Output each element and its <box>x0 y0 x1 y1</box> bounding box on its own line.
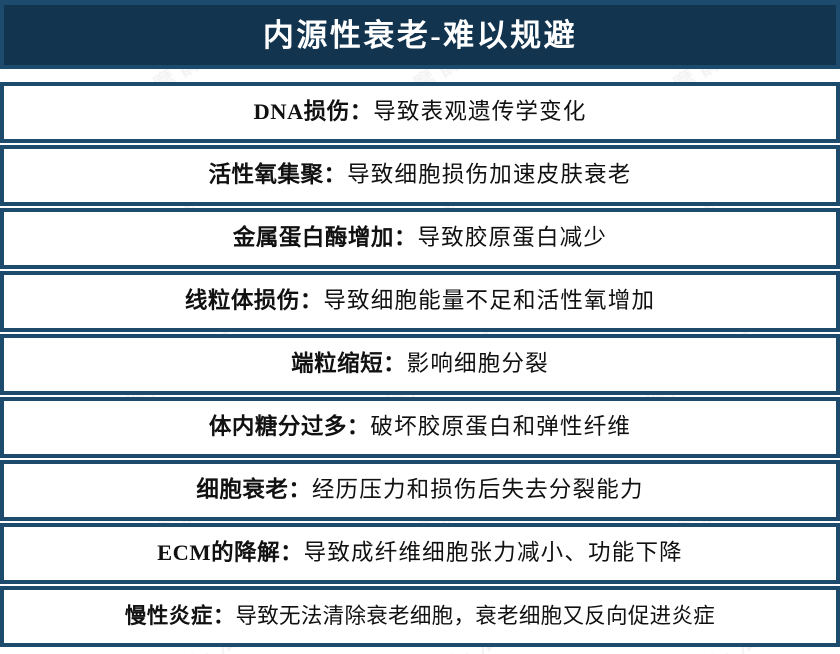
list-item-text: 线粒体损伤：导致细胞能量不足和活性氧增加 <box>185 290 655 313</box>
list-item-text: 慢性炎症：导致无法清除衰老细胞，衰老细胞又反向促进炎症 <box>125 606 715 628</box>
list-item-description: 影响细胞分裂 <box>407 351 549 376</box>
list-item-description: 导致细胞损伤加速皮肤衰老 <box>347 162 631 187</box>
list-item: 体内糖分过多：破坏胶原蛋白和弹性纤维 <box>0 397 840 458</box>
list-item-term: 慢性炎症 <box>125 604 213 628</box>
list-item-text: 细胞衰老：经历压力和损伤后失去分裂能力 <box>196 479 643 502</box>
list-item-term: 体内糖分过多 <box>209 414 347 439</box>
item-list: DNA损伤：导致表观遗传学变化活性氧集聚：导致细胞损伤加速皮肤衰老金属蛋白酶增加… <box>0 82 840 647</box>
list-item: 金属蛋白酶增加：导致胶原蛋白减少 <box>0 208 840 269</box>
list-item-text: 端粒缩短：影响细胞分裂 <box>291 353 549 376</box>
list-item-separator: ： <box>288 477 312 502</box>
list-item-separator: ： <box>324 162 348 187</box>
list-item-description: 经历压力和损伤后失去分裂能力 <box>312 477 644 502</box>
list-item-term: ECM的降解 <box>157 540 280 565</box>
list-item-text: 活性氧集聚：导致细胞损伤加速皮肤衰老 <box>209 164 632 187</box>
list-item: 线粒体损伤：导致细胞能量不足和活性氧增加 <box>0 271 840 332</box>
list-item-separator: ： <box>347 414 371 439</box>
list-item-term: 线粒体损伤 <box>185 288 300 313</box>
list-item: 细胞衰老：经历压力和损伤后失去分裂能力 <box>0 460 840 521</box>
list-item-separator: ： <box>280 540 304 565</box>
list-item-description: 导致细胞能量不足和活性氧增加 <box>323 288 655 313</box>
list-item-description: 破坏胶原蛋白和弹性纤维 <box>370 414 631 439</box>
list-item-separator: ： <box>350 99 374 124</box>
list-item-description: 导致无法清除衰老细胞，衰老细胞又反向促进炎症 <box>235 604 715 628</box>
list-item-separator: ： <box>383 351 407 376</box>
list-item-term: 细胞衰老 <box>196 477 288 502</box>
list-item: 慢性炎症：导致无法清除衰老细胞，衰老细胞又反向促进炎症 <box>0 586 840 647</box>
list-item-text: DNA损伤：导致表观遗传学变化 <box>253 101 586 124</box>
list-item-separator: ： <box>300 288 324 313</box>
list-item-term: DNA损伤 <box>253 99 349 124</box>
list-item-description: 导致胶原蛋白减少 <box>417 225 607 250</box>
list-item-term: 金属蛋白酶增加 <box>233 225 394 250</box>
list-item-description: 导致表观遗传学变化 <box>373 99 586 124</box>
list-item-term: 端粒缩短 <box>291 351 383 376</box>
list-item: ECM的降解：导致成纤维细胞张力减小、功能下降 <box>0 523 840 584</box>
page-title: 内源性衰老-难以规避 <box>263 20 577 51</box>
list-item-text: 金属蛋白酶增加：导致胶原蛋白减少 <box>233 227 607 250</box>
list-item: 端粒缩短：影响细胞分裂 <box>0 334 840 395</box>
list-item: 活性氧集聚：导致细胞损伤加速皮肤衰老 <box>0 145 840 206</box>
list-item-term: 活性氧集聚 <box>209 162 324 187</box>
list-item-separator: ： <box>213 604 236 628</box>
list-item: DNA损伤：导致表观遗传学变化 <box>0 82 840 143</box>
list-item-text: 体内糖分过多：破坏胶原蛋白和弹性纤维 <box>209 416 631 439</box>
header-bar: 内源性衰老-难以规避 <box>0 0 840 69</box>
list-item-separator: ： <box>394 225 418 250</box>
infographic-page: 诊摩 酶 · 沿诊摩 酶 · 沿诊摩 酶 · 沿诊摩 酶 · 沿诊摩 酶 · 沿… <box>0 0 840 654</box>
list-item-text: ECM的降解：导致成纤维细胞张力减小、功能下降 <box>157 542 683 565</box>
list-item-description: 导致成纤维细胞张力减小、功能下降 <box>304 540 683 565</box>
